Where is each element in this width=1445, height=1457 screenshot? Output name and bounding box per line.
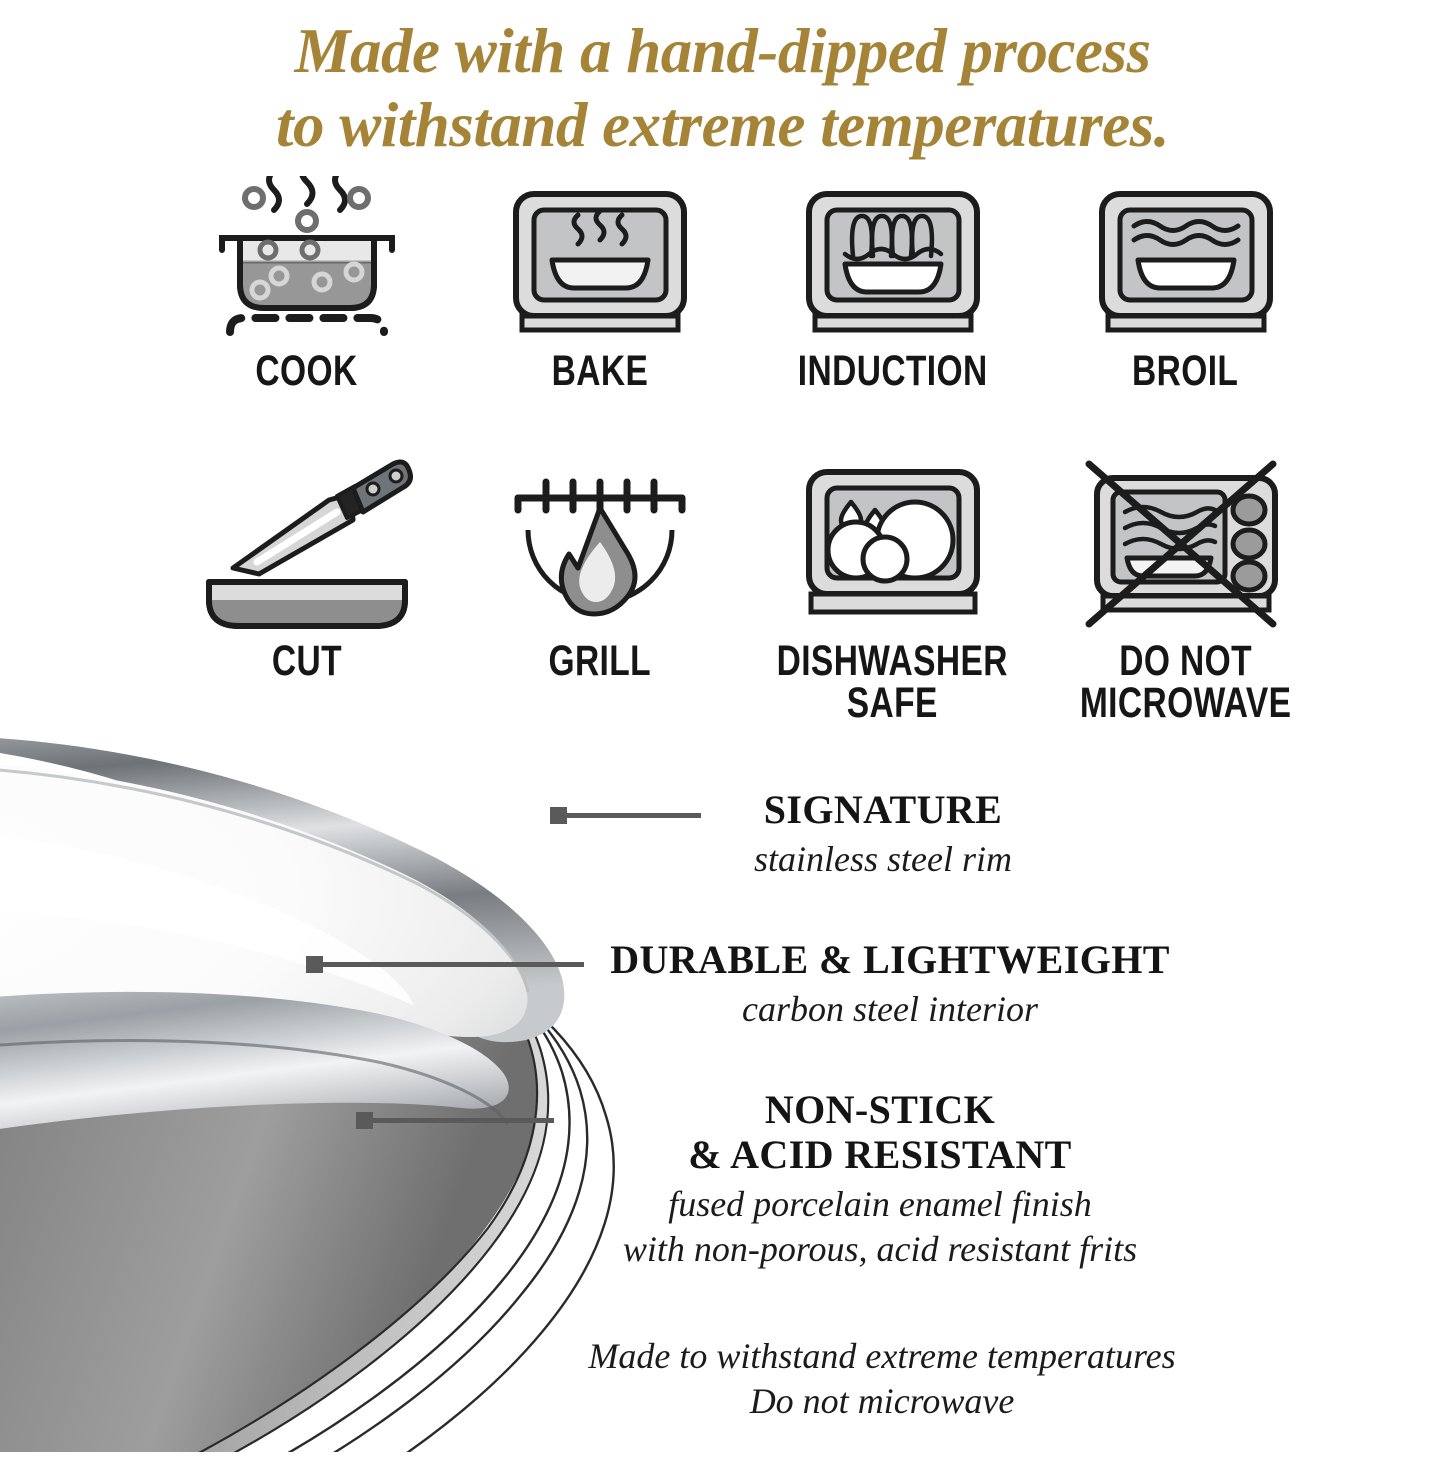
leader-dot-signature	[550, 807, 567, 824]
leader-line-signature	[556, 813, 701, 818]
icon-cell-broil: BROIL	[1039, 176, 1332, 392]
no-microwave-icon	[1081, 458, 1291, 634]
icon-label-induction: INDUCTION	[798, 350, 988, 392]
icon-label-cook: COOK	[255, 350, 357, 392]
infographic-root: Made with a hand-dipped process to withs…	[0, 0, 1445, 1445]
leader-line-nonstick	[362, 1118, 554, 1123]
callout-subtitle-signature: stainless steel rim	[703, 837, 1063, 882]
icon-cell-cook: COOK	[160, 176, 453, 392]
callout-subtitle-nonstick: fused porcelain enamel finish with non-p…	[560, 1182, 1200, 1272]
headline-line-1: Made with a hand-dipped process	[0, 14, 1445, 88]
grill-flame-icon	[500, 458, 700, 634]
leader-dot-durable	[306, 956, 323, 973]
icon-label-broil: BROIL	[1132, 350, 1238, 392]
icon-label-dishwasher-safe: DISHWASHER SAFE	[777, 640, 1008, 724]
callout-title-durable: DURABLE & LIGHTWEIGHT	[590, 938, 1190, 983]
icon-cell-bake: BAKE	[453, 176, 746, 392]
icon-label-bake: BAKE	[551, 350, 648, 392]
oven-induction-coil-icon	[793, 176, 993, 344]
page-headline: Made with a hand-dipped process to withs…	[0, 14, 1445, 163]
leader-line-durable	[312, 962, 584, 967]
oven-broil-icon	[1086, 176, 1286, 344]
enamel-cookware-cutaway	[0, 612, 630, 1452]
icon-cell-induction: INDUCTION	[746, 176, 1039, 392]
knife-cut-icon	[197, 458, 417, 634]
callout-nonstick: NON-STICK & ACID RESISTANT fused porcela…	[560, 1088, 1200, 1272]
callout-subtitle-durable: carbon steel interior	[590, 987, 1190, 1032]
dishwasher-safe-icon	[793, 458, 993, 634]
pot-boiling-icon	[202, 176, 412, 344]
oven-bake-icon	[500, 176, 700, 344]
callout-durable: DURABLE & LIGHTWEIGHT carbon steel inter…	[590, 938, 1190, 1032]
icon-label-no-microwave: DO NOT MICROWAVE	[1080, 640, 1292, 724]
callout-signature: SIGNATURE stainless steel rim	[703, 788, 1063, 882]
callout-title-nonstick: NON-STICK & ACID RESISTANT	[560, 1088, 1200, 1178]
headline-line-2: to withstand extreme temperatures.	[0, 88, 1445, 162]
callout-title-signature: SIGNATURE	[703, 788, 1063, 833]
icon-cell-dishwasher-safe: DISHWASHER SAFE	[746, 458, 1039, 724]
icon-row-1: COOK BAKE	[160, 176, 1335, 392]
icon-cell-no-microwave: DO NOT MICROWAVE	[1039, 458, 1332, 724]
leader-dot-nonstick	[356, 1112, 373, 1129]
footnote-text: Made to withstand extreme temperatures D…	[472, 1334, 1292, 1425]
